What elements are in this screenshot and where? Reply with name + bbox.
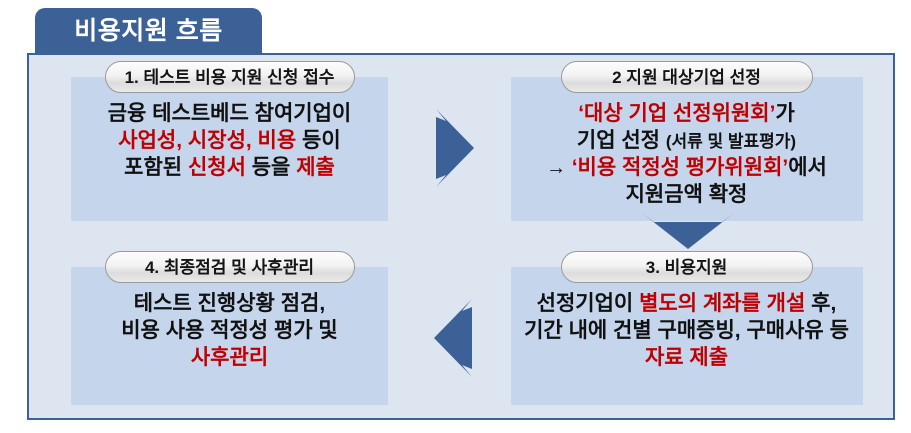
step-2-lines: ‘대상 기업 선정위원회’가기업 선정 (서류 및 발표평가)→ ‘비용 적정성… bbox=[511, 77, 863, 209]
arrow-right-icon bbox=[424, 103, 484, 193]
step-1-header-pill: 1. 테스트 비용 지원 신청 접수 bbox=[105, 61, 355, 93]
step-2-line-1: ‘대상 기업 선정위원회’가 bbox=[511, 101, 863, 128]
text-segment: 등을 bbox=[246, 156, 296, 179]
step-1-header-label: 1. 테스트 비용 지원 신청 접수 bbox=[125, 69, 335, 86]
text-segment: 금융 테스트베드 참여기업이 bbox=[108, 102, 352, 125]
step-3-header-label: 3. 비용지원 bbox=[646, 259, 727, 276]
text-segment: 후, bbox=[805, 292, 836, 315]
text-segment: 포함된 bbox=[124, 156, 188, 179]
step-4-body: 테스트 진행상황 점검,비용 사용 적정성 평가 및사후관리 bbox=[71, 267, 388, 405]
text-segment: 기업 선정 bbox=[577, 129, 666, 152]
step-2-line-2: 기업 선정 (서류 및 발표평가) bbox=[511, 128, 863, 155]
arrow-down-icon bbox=[637, 207, 737, 255]
arrow-left-svg bbox=[424, 293, 484, 383]
text-segment: ‘대상 기업 선정위원회’ bbox=[578, 102, 775, 125]
text-segment: 자료 제출 bbox=[645, 346, 728, 369]
diagram-title-tab: 비용지원 흐름 bbox=[35, 8, 262, 55]
text-segment: 에서 bbox=[788, 156, 827, 179]
step-card-3: 3. 비용지원 선정기업이 별도의 계좌를 개설 후,기간 내에 건별 구매증빙… bbox=[499, 251, 874, 405]
step-2-line-4: 지원금액 확정 bbox=[511, 182, 863, 209]
step-2-line-3: → ‘비용 적정성 평가위원회’에서 bbox=[511, 155, 863, 182]
step-1-line-2: 사업성, 시장성, 비용 등이 bbox=[71, 128, 388, 155]
text-segment: 비용 사용 적정성 평가 및 bbox=[121, 319, 338, 342]
step-4-header-label: 4. 최종점검 및 사후관리 bbox=[145, 259, 314, 276]
text-segment: (서류 및 발표평가) bbox=[666, 132, 796, 151]
step-1-line-3: 포함된 신청서 등을 제출 bbox=[71, 155, 388, 182]
text-segment: 사후관리 bbox=[191, 346, 268, 369]
step-3-line-2: 기간 내에 건별 구매증빙, 구매사유 등 bbox=[511, 318, 863, 345]
text-segment: 테스트 진행상황 점검, bbox=[134, 292, 325, 315]
text-segment: 선정기업이 bbox=[537, 292, 639, 315]
arrow-left-icon bbox=[424, 293, 484, 383]
text-segment: 신청서 bbox=[188, 156, 246, 179]
process-flow-diagram: 비용지원 흐름 1. 테스트 비용 지원 신청 접수 금융 테스트베드 참여기업… bbox=[0, 0, 911, 433]
text-segment: 지원금액 확정 bbox=[626, 183, 748, 206]
arrow-down-svg bbox=[637, 207, 737, 255]
step-card-4: 4. 최종점검 및 사후관리 테스트 진행상황 점검,비용 사용 적정성 평가 … bbox=[57, 251, 402, 405]
text-segment: 사업성, 시장성, 비용 bbox=[118, 129, 296, 152]
step-3-line-1: 선정기업이 별도의 계좌를 개설 후, bbox=[511, 291, 863, 318]
step-1-line-1: 금융 테스트베드 참여기업이 bbox=[71, 101, 388, 128]
step-2-body: ‘대상 기업 선정위원회’가기업 선정 (서류 및 발표평가)→ ‘비용 적정성… bbox=[511, 77, 863, 221]
text-segment: ‘비용 적정성 평가위원회’ bbox=[572, 156, 789, 179]
text-segment: 등이 bbox=[296, 129, 340, 152]
step-3-header-pill: 3. 비용지원 bbox=[561, 251, 813, 283]
text-segment: 별도의 계좌를 개설 bbox=[639, 292, 805, 315]
step-card-2: 2 지원 대상기업 선정 ‘대상 기업 선정위원회’가기업 선정 (서류 및 발… bbox=[499, 61, 874, 221]
text-segment: 기간 내에 건별 구매증빙, 구매사유 등 bbox=[524, 319, 849, 342]
text-segment: → bbox=[546, 157, 572, 179]
step-4-line-1: 테스트 진행상황 점검, bbox=[71, 291, 388, 318]
step-4-line-2: 비용 사용 적정성 평가 및 bbox=[71, 318, 388, 345]
step-4-header-pill: 4. 최종점검 및 사후관리 bbox=[105, 251, 355, 283]
diagram-panel: 1. 테스트 비용 지원 신청 접수 금융 테스트베드 참여기업이사업성, 시장… bbox=[27, 53, 895, 420]
text-segment: 가 bbox=[775, 102, 794, 125]
step-1-body: 금융 테스트베드 참여기업이사업성, 시장성, 비용 등이포함된 신청서 등을 … bbox=[71, 77, 388, 221]
arrow-right-svg bbox=[424, 103, 484, 193]
step-4-line-3: 사후관리 bbox=[71, 345, 388, 372]
text-segment: 제출 bbox=[296, 156, 335, 179]
step-2-header-label: 2 지원 대상기업 선정 bbox=[612, 69, 761, 86]
step-3-body: 선정기업이 별도의 계좌를 개설 후,기간 내에 건별 구매증빙, 구매사유 등… bbox=[511, 267, 863, 405]
step-3-line-3: 자료 제출 bbox=[511, 345, 863, 372]
step-2-header-pill: 2 지원 대상기업 선정 bbox=[561, 61, 813, 93]
step-card-1: 1. 테스트 비용 지원 신청 접수 금융 테스트베드 참여기업이사업성, 시장… bbox=[57, 61, 402, 221]
page-title: 비용지원 흐름 bbox=[74, 19, 222, 44]
